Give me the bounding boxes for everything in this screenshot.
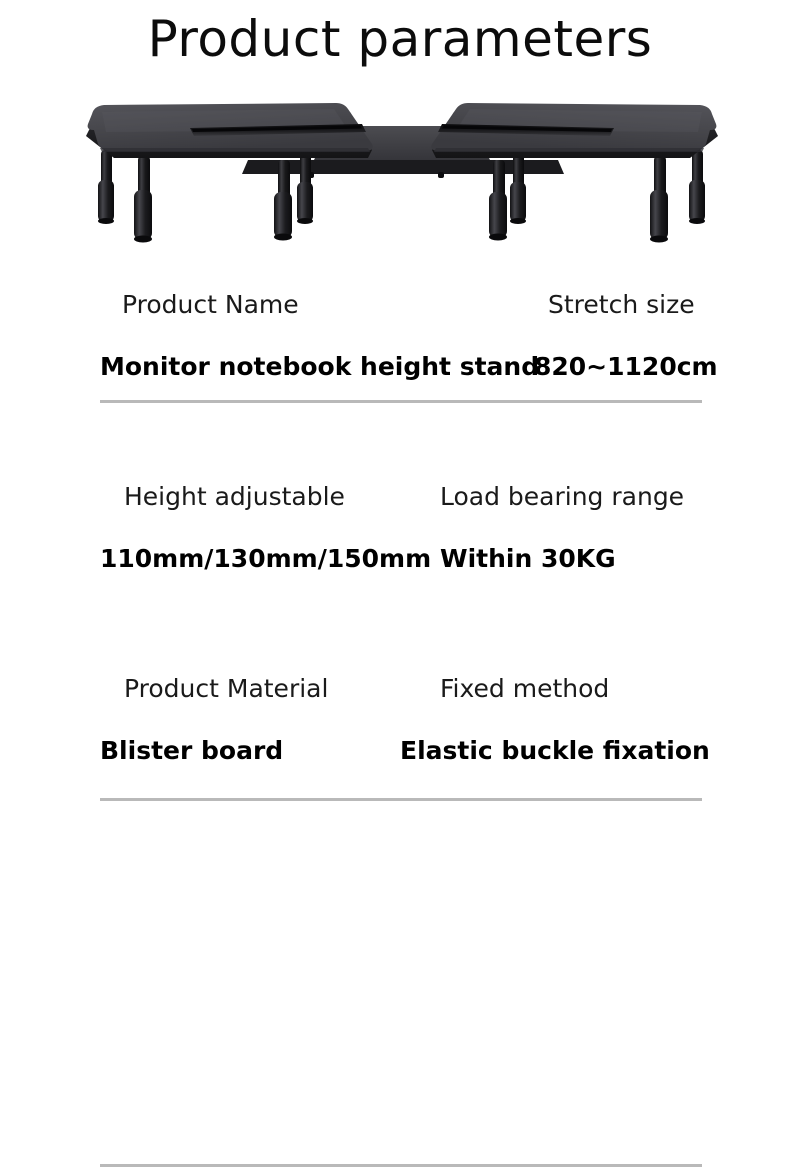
spec-cell-stretch-size: Stretch size 820~1120cm [548, 288, 718, 384]
spec-label: Product Name [122, 288, 539, 322]
spec-value: Elastic buckle fixation [400, 734, 710, 768]
spec-value: Blister board [100, 734, 328, 768]
spec-label: Product Material [124, 672, 328, 706]
right-panel [431, 103, 718, 158]
product-parameters-page: Product parameters [0, 0, 800, 800]
right-legs [489, 150, 705, 243]
spec-row-cells: Height adjustable 110mm/130mm/150mm Load… [0, 480, 800, 600]
product-image [72, 98, 732, 270]
page-title: Product parameters [0, 8, 800, 70]
spec-value: Within 30KG [440, 542, 684, 576]
spec-label: Fixed method [440, 672, 710, 706]
spec-cell-product-name: Product Name Monitor notebook height sta… [122, 288, 539, 384]
spec-row: Product Name Monitor notebook height sta… [0, 288, 800, 480]
spec-cell-product-material: Product Material Blister board [124, 672, 328, 768]
spec-value: Monitor notebook height stand [100, 350, 539, 384]
spec-cell-load-bearing-range: Load bearing range Within 30KG [440, 480, 684, 576]
spec-row: Height adjustable 110mm/130mm/150mm Load… [0, 480, 800, 672]
left-panel [86, 103, 373, 158]
spec-value: 110mm/130mm/150mm [100, 542, 431, 576]
spec-label: Load bearing range [440, 480, 684, 514]
spec-row-cells: Product Name Monitor notebook height sta… [0, 288, 800, 408]
spec-row: Product Material Blister board Fixed met… [0, 672, 800, 864]
spec-row-cells: Product Material Blister board Fixed met… [0, 672, 800, 792]
row-divider [100, 400, 702, 403]
spec-label: Height adjustable [124, 480, 431, 514]
spec-cell-height-adjustable: Height adjustable 110mm/130mm/150mm [124, 480, 431, 576]
spec-table: Product Name Monitor notebook height sta… [0, 288, 800, 864]
left-legs [98, 150, 313, 243]
spec-value: 820~1120cm [534, 350, 718, 384]
spec-cell-fixed-method: Fixed method Elastic buckle fixation [440, 672, 710, 768]
product-illustration [72, 98, 732, 270]
page-title-wrapper: Product parameters [0, 8, 800, 70]
spec-label: Stretch size [548, 288, 718, 322]
